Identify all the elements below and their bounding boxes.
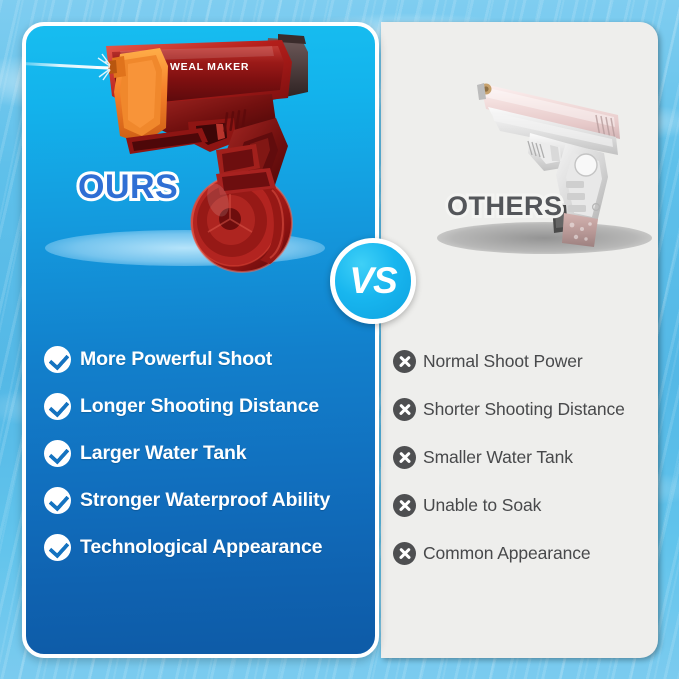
cross-circle-icon: [393, 494, 416, 517]
list-item-label: Longer Shooting Distance: [80, 395, 319, 418]
cross-circle-icon: [393, 446, 416, 469]
list-item: Normal Shoot Power: [393, 338, 655, 385]
list-item-label: Stronger Waterproof Ability: [80, 489, 330, 512]
ours-label: OURS: [78, 168, 178, 207]
list-item-label: Unable to Soak: [423, 495, 541, 516]
list-item: Shorter Shooting Distance: [393, 386, 655, 433]
others-label: OTHERS: [447, 191, 563, 222]
list-item-label: Larger Water Tank: [80, 442, 247, 465]
check-circle-icon: [44, 534, 71, 561]
ours-product-image: WEAL MAKER: [20, 18, 340, 288]
list-item-label: More Powerful Shoot: [80, 348, 272, 371]
list-item: Technological Appearance: [44, 524, 364, 570]
cross-circle-icon: [393, 350, 416, 373]
cross-circle-icon: [393, 542, 416, 565]
others-feature-list: Normal Shoot Power Shorter Shooting Dist…: [393, 338, 655, 578]
brand-text: WEAL MAKER: [170, 61, 249, 73]
list-item-label: Normal Shoot Power: [423, 351, 583, 372]
list-item: Longer Shooting Distance: [44, 383, 364, 429]
ours-feature-list: More Powerful Shoot Longer Shooting Dist…: [44, 336, 364, 571]
list-item-label: Technological Appearance: [80, 536, 322, 559]
check-circle-icon: [44, 487, 71, 514]
cross-circle-icon: [393, 398, 416, 421]
check-circle-icon: [44, 440, 71, 467]
list-item-label: Common Appearance: [423, 543, 591, 564]
list-item-label: Smaller Water Tank: [423, 447, 573, 468]
list-item: More Powerful Shoot: [44, 336, 364, 382]
check-circle-icon: [44, 393, 71, 420]
list-item: Common Appearance: [393, 530, 655, 577]
list-item: Unable to Soak: [393, 482, 655, 529]
versus-badge: VS: [330, 238, 416, 324]
list-item: Larger Water Tank: [44, 430, 364, 476]
list-item: Stronger Waterproof Ability: [44, 477, 364, 523]
list-item-label: Shorter Shooting Distance: [423, 399, 625, 420]
versus-badge-text: VS: [349, 262, 396, 299]
list-item: Smaller Water Tank: [393, 434, 655, 481]
check-circle-icon: [44, 346, 71, 373]
comparison-infographic: WEAL MAKER: [0, 0, 679, 679]
